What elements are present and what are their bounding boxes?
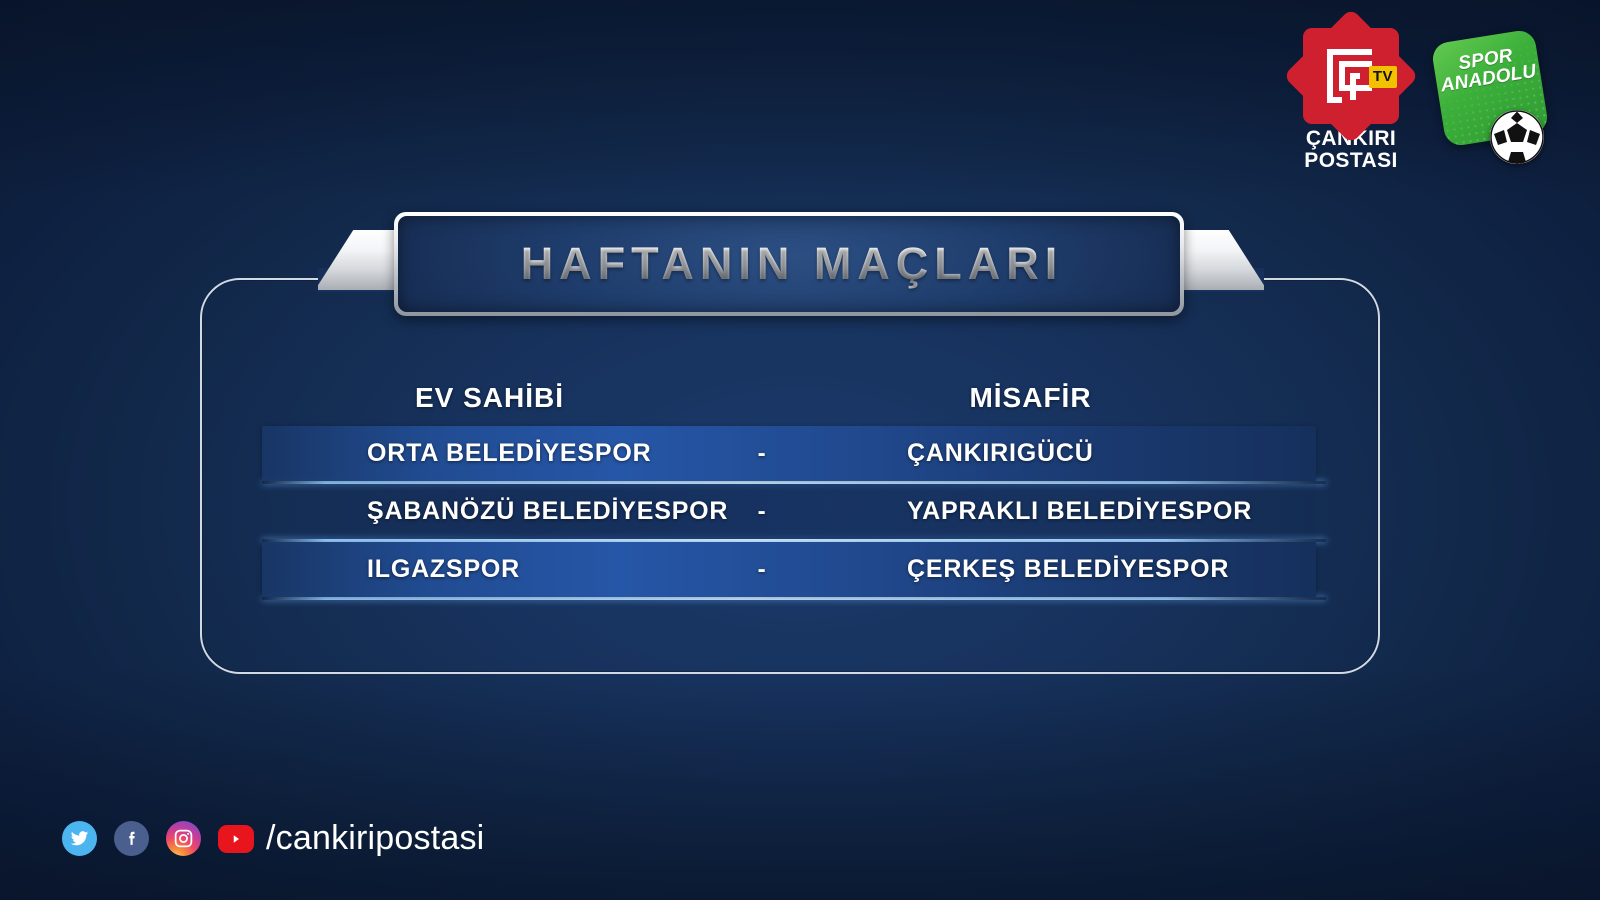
away-team: ÇANKIRIGÜCÜ [807, 439, 1316, 468]
cp-star-icon: TV [1303, 28, 1399, 124]
banner-ribbon-left [318, 230, 402, 290]
home-team: ŞABANÖZÜ BELEDİYESPOR [262, 497, 717, 526]
table-header-row: EV SAHİBİ MİSAFİR [262, 370, 1316, 426]
cankiri-postasi-logo: TV ÇANKIRI POSTASI [1292, 28, 1410, 172]
home-team: ORTA BELEDİYESPOR [262, 439, 717, 468]
facebook-icon[interactable] [114, 821, 149, 856]
banner-ribbon-right [1180, 230, 1264, 290]
column-header-home: EV SAHİBİ [262, 382, 727, 414]
graphic-canvas: TV ÇANKIRI POSTASI SPOR ANADOLU [0, 0, 1600, 900]
title-banner-inner: HAFTANIN MAÇLARI [398, 216, 1180, 312]
logo-zone: TV ÇANKIRI POSTASI SPOR ANADOLU [1292, 28, 1550, 172]
page-title: HAFTANIN MAÇLARI [515, 238, 1064, 290]
cp-name-line2: POSTASI [1292, 150, 1410, 172]
row-divider [262, 597, 1326, 600]
table-row[interactable]: ORTA BELEDİYESPOR - ÇANKIRIGÜCÜ [262, 426, 1316, 481]
table-row[interactable]: ILGAZSPOR - ÇERKEŞ BELEDİYESPOR [262, 542, 1316, 597]
social-bar: /cankiripostasi [62, 819, 484, 858]
instagram-icon[interactable] [166, 821, 201, 856]
home-team: ILGAZSPOR [262, 555, 717, 584]
table-row[interactable]: ŞABANÖZÜ BELEDİYESPOR - YAPRAKLI BELEDİY… [262, 484, 1316, 539]
away-team: YAPRAKLI BELEDİYESPOR [807, 497, 1316, 526]
column-header-away: MİSAFİR [817, 382, 1316, 414]
table-body: ORTA BELEDİYESPOR - ÇANKIRIGÜCÜ ŞABANÖZÜ… [262, 426, 1316, 600]
soccer-ball-icon [1490, 110, 1544, 164]
twitter-icon[interactable] [62, 821, 97, 856]
youtube-icon[interactable] [218, 825, 254, 853]
match-separator: - [717, 498, 807, 526]
title-banner: HAFTANIN MAÇLARI [394, 212, 1184, 316]
cp-tv-badge: TV [1369, 66, 1397, 88]
spor-anadolu-logo: SPOR ANADOLU [1432, 28, 1550, 168]
match-separator: - [717, 556, 807, 584]
fixtures-table: EV SAHİBİ MİSAFİR ORTA BELEDİYESPOR - ÇA… [262, 370, 1316, 600]
away-team: ÇERKEŞ BELEDİYESPOR [807, 555, 1316, 584]
match-separator: - [717, 440, 807, 468]
social-handle[interactable]: /cankiripostasi [266, 819, 484, 858]
